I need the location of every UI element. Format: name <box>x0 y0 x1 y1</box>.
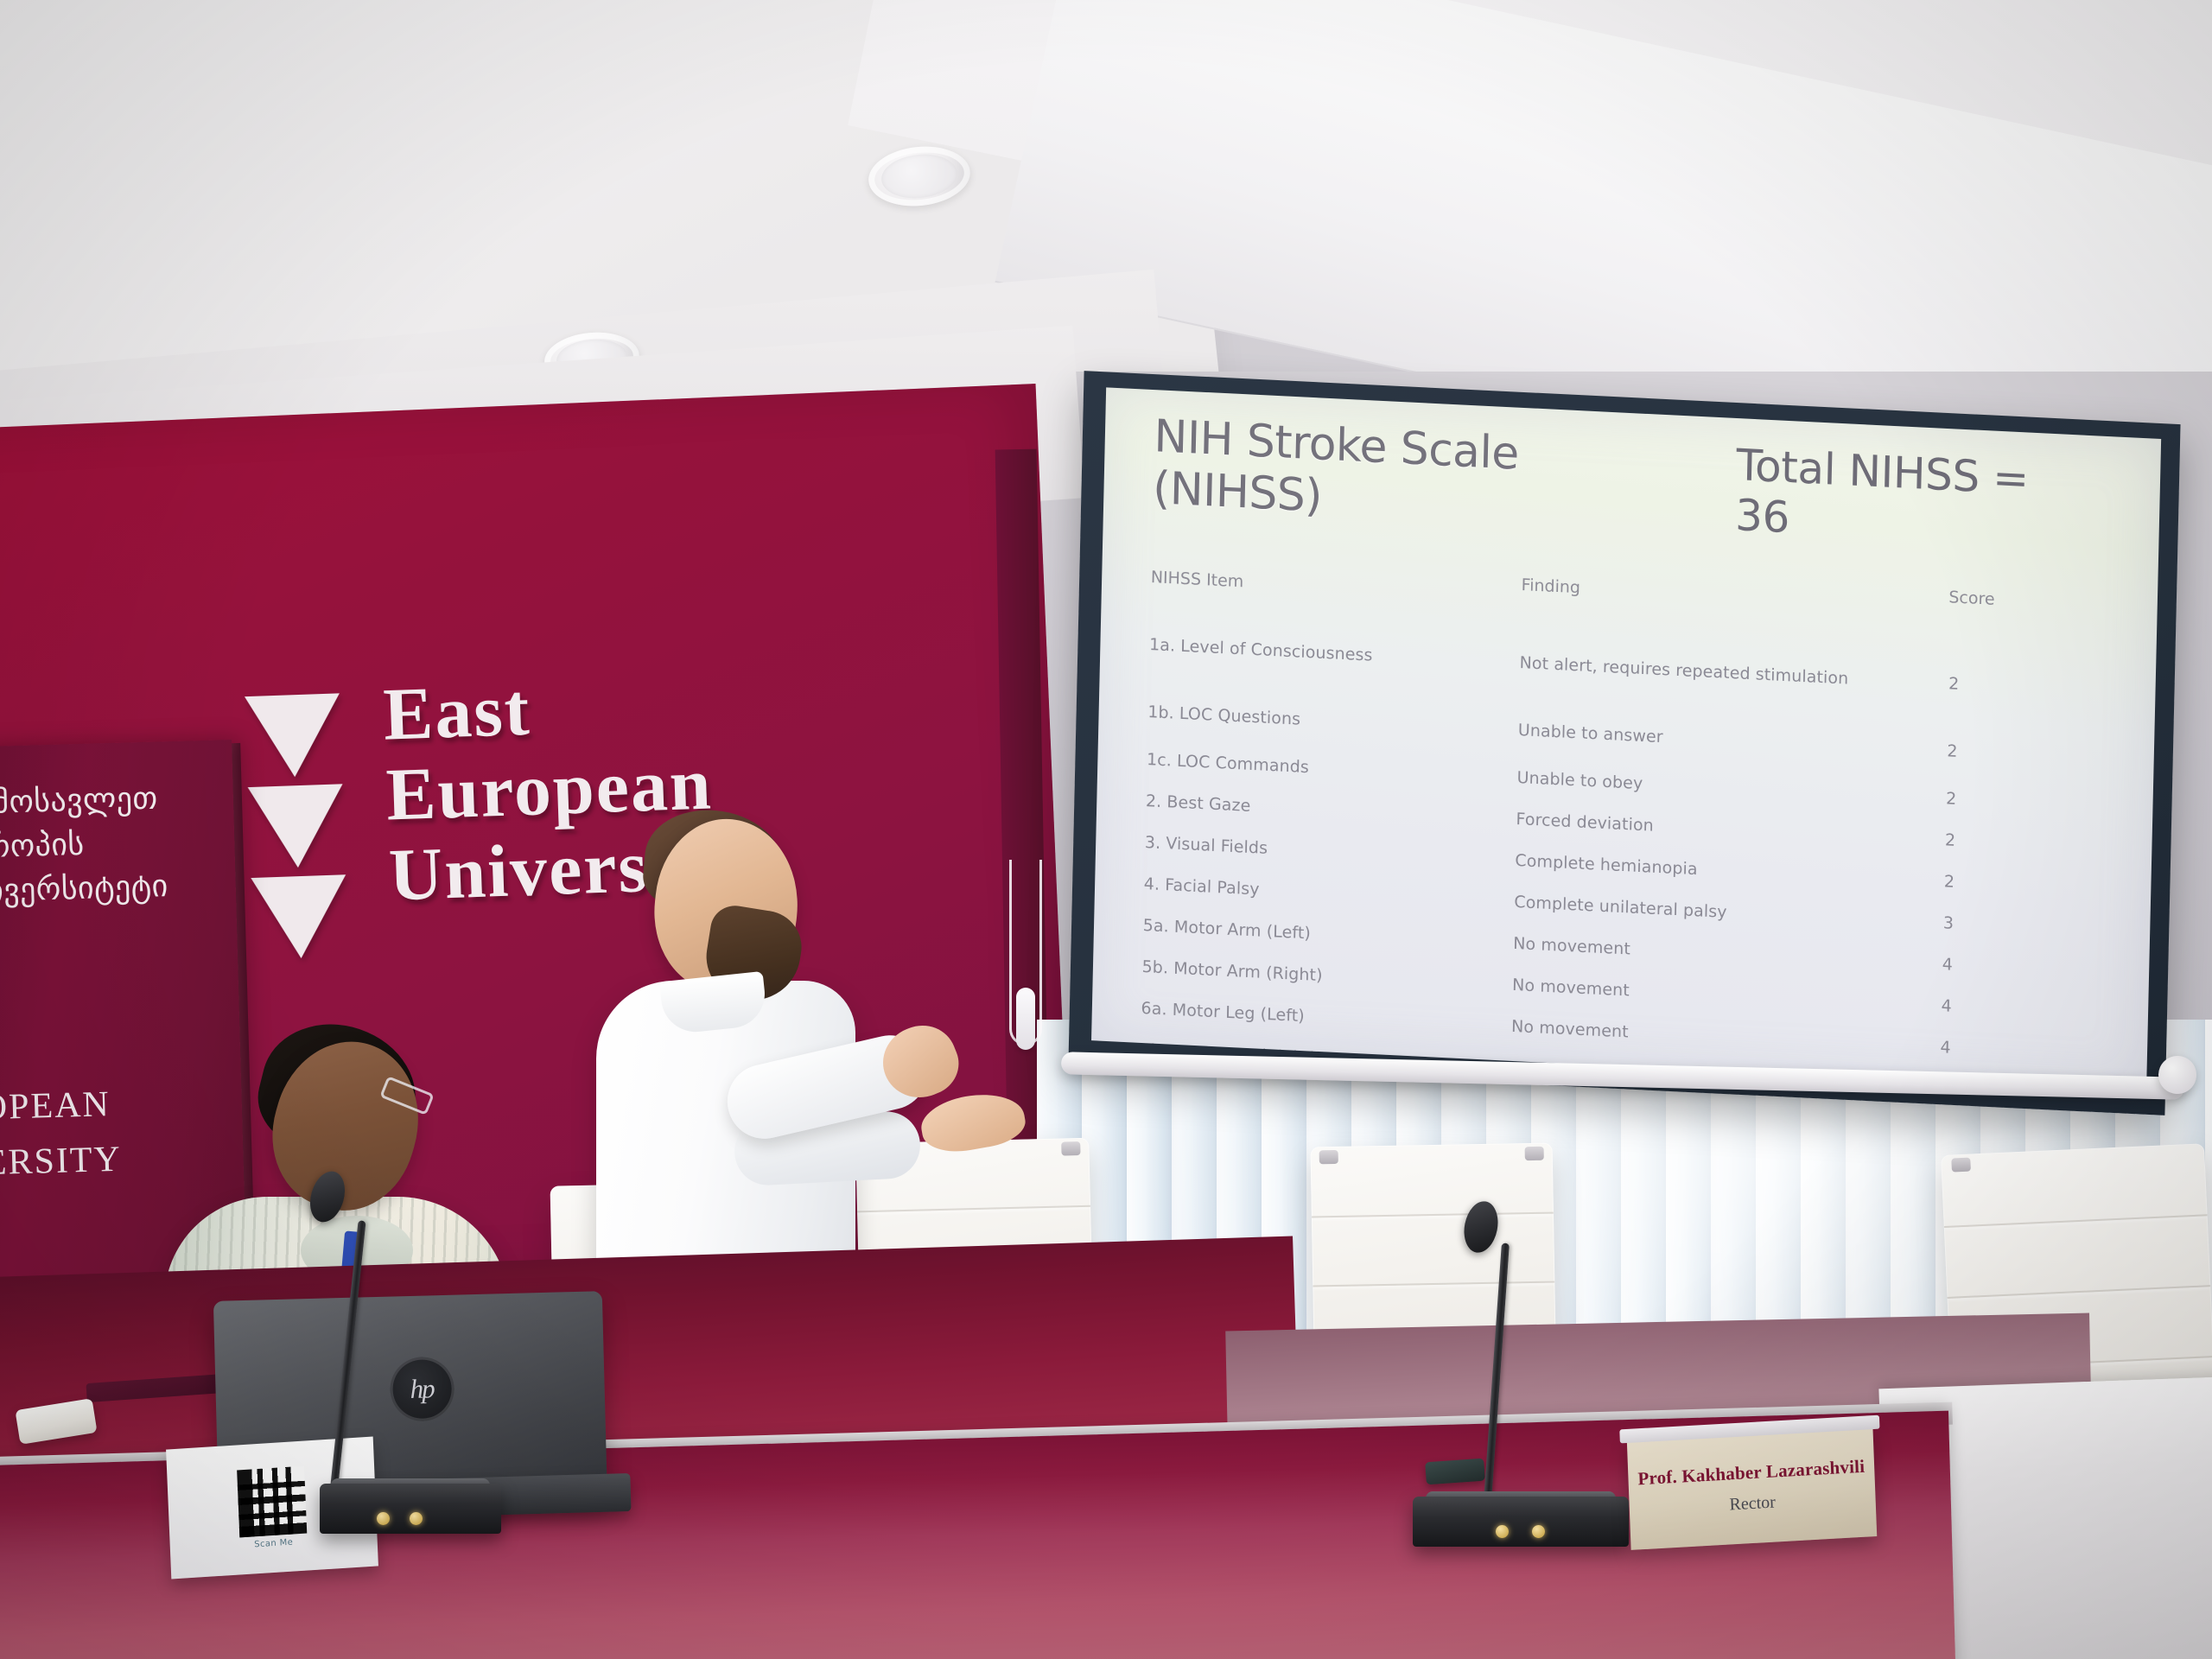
conference-microphone[interactable] <box>1413 1201 1629 1547</box>
qr-code-icon <box>237 1465 307 1537</box>
triple-chevron-logo-icon <box>245 693 358 973</box>
nameplate-role: Rector <box>1729 1493 1776 1516</box>
qr-card-caption: Scan Me <box>254 1537 293 1549</box>
conference-microphone[interactable] <box>320 1171 501 1534</box>
cell-score: 3 <box>1923 901 2076 950</box>
cell-score: 4 <box>1921 1026 2074 1075</box>
cell-score: 4 <box>1923 943 2075 992</box>
rector-nameplate: Prof. Kakhaber Lazarashvili Rector <box>1627 1426 1878 1550</box>
presenter-hand-right <box>918 1087 1029 1158</box>
banner-georgian-line: ევროპის <box>0 818 235 870</box>
cell-score: 4 <box>1922 984 2075 1033</box>
banner-georgian-line: აღმოსავლეთ <box>0 774 234 826</box>
nihss-table: NIHSS Item Finding Score 1a. Level of Co… <box>1117 544 2083 1092</box>
projector-screen: NIH Stroke Scale (NIHSS) Total NIHSS = 3… <box>1068 371 2180 1116</box>
conference-room-photo: EastEuropeanUniversity აღმოსავლეთ ევროპი… <box>0 0 2212 1659</box>
slide-surface: NIH Stroke Scale (NIHSS) Total NIHSS = 3… <box>1091 387 2161 1092</box>
banner-georgian-line: უნივერსიტეტი <box>0 862 236 914</box>
cell-score: 2 <box>1924 860 2077 909</box>
cell-score: 2 <box>1927 777 2080 826</box>
cell-score: 2 <box>1925 818 2078 868</box>
column-header-score: Score <box>1930 583 2084 655</box>
slide-total-score: Total NIHSS = 36 <box>1735 440 2088 557</box>
cell-score: 2 <box>1929 647 2082 726</box>
slide-title: NIH Stroke Scale (NIHSS) <box>1153 410 1688 540</box>
presentation-slide: NIH Stroke Scale (NIHSS) Total NIHSS = 3… <box>1123 410 2087 1057</box>
cell-score: 2 <box>1928 718 2081 785</box>
nameplate-name: Prof. Kakhaber Lazarashvili <box>1637 1456 1866 1491</box>
